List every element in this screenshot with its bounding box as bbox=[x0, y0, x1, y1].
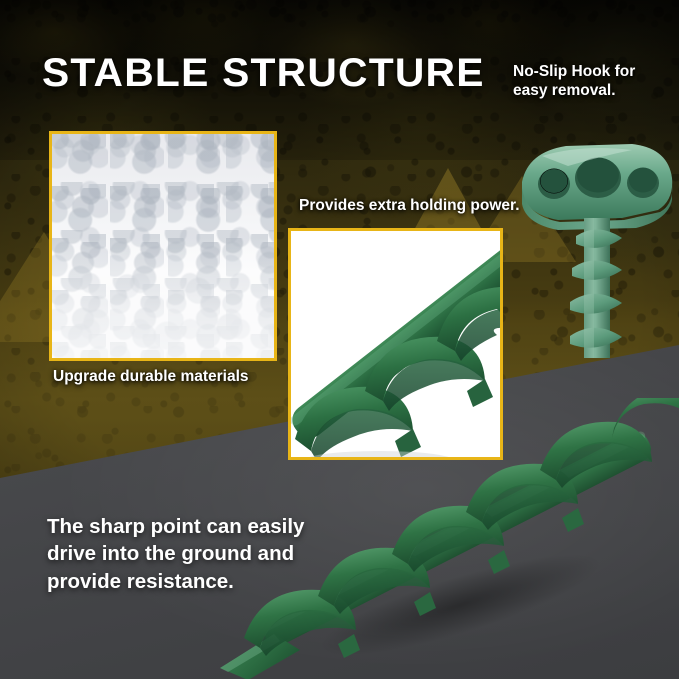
product-infographic: STABLE STRUCTURE No-Slip Hook for easy r… bbox=[0, 0, 679, 679]
pellets-photo-depth-blur bbox=[52, 134, 274, 358]
callout-durable-materials: Upgrade durable materials bbox=[53, 368, 249, 386]
callout-holding-power: Provides extra holding power. bbox=[299, 197, 520, 215]
callout-no-slip-hook: No-Slip Hook for easy removal. bbox=[513, 62, 673, 100]
anchor-hook-product bbox=[512, 126, 679, 358]
photo-frame-holding-power bbox=[288, 228, 503, 460]
callout-sharp-point: The sharp point can easily drive into th… bbox=[47, 513, 339, 595]
photo-frame-materials bbox=[49, 131, 277, 361]
page-title: STABLE STRUCTURE bbox=[42, 51, 485, 96]
screw-closeup-photo bbox=[291, 231, 500, 457]
